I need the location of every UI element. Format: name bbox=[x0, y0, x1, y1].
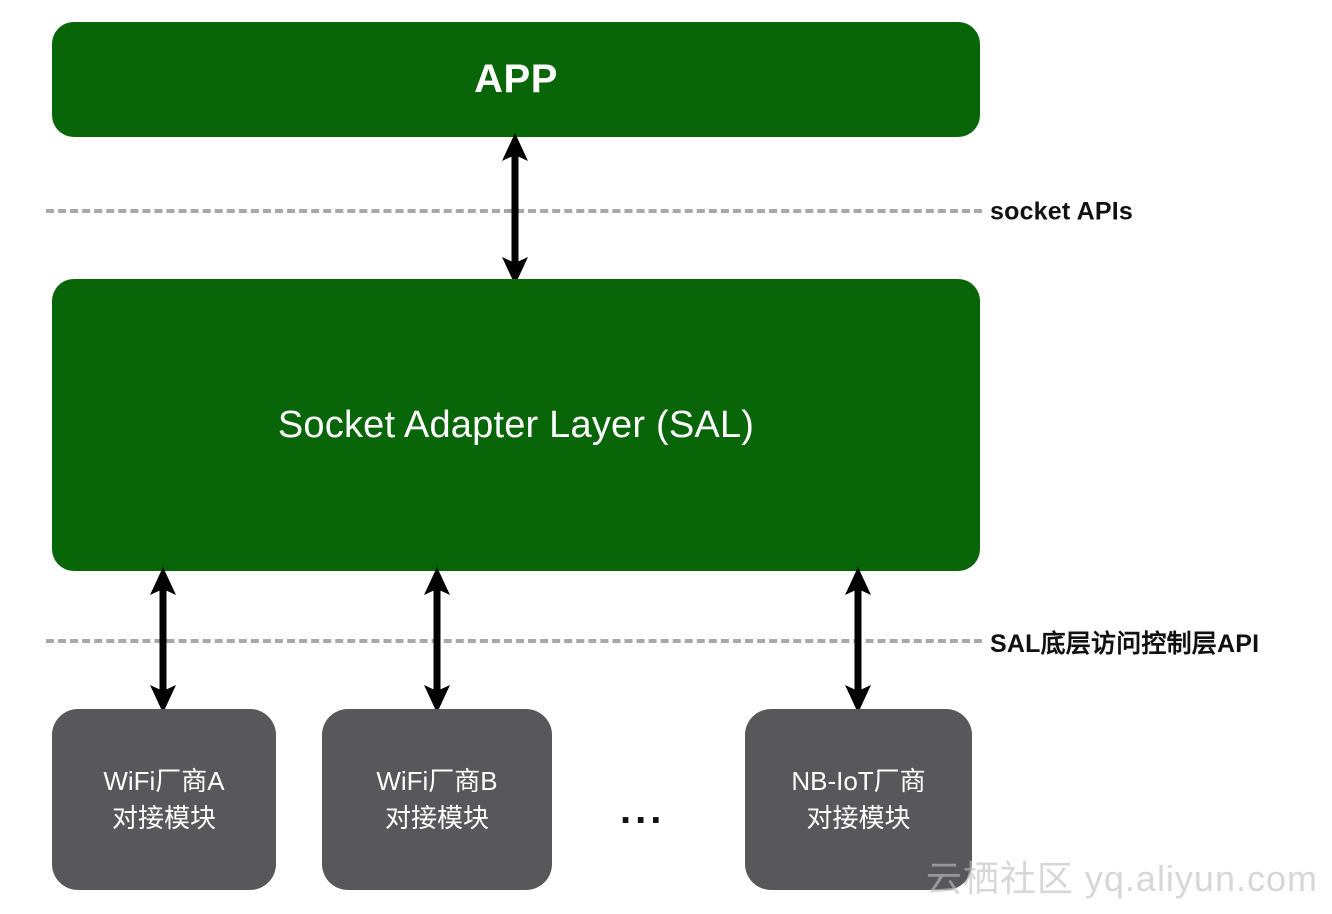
sal-layer-box[interactable]: Socket Adapter Layer (SAL) bbox=[52, 279, 980, 571]
arrow-sal-to-vendor-0 bbox=[139, 567, 187, 713]
ellipsis-more-vendors: ... bbox=[620, 790, 665, 830]
divider-label-sal-access-control: SAL底层访问控制层API bbox=[990, 624, 1259, 660]
vendor-module-box-wifi-a[interactable]: WiFi厂商A 对接模块 bbox=[52, 709, 276, 890]
arrow-sal-to-vendor-1 bbox=[413, 567, 461, 713]
divider-label-socket-apis: socket APIs bbox=[990, 198, 1133, 227]
vendor-module-box-nb-iot[interactable]: NB-IoT厂商 对接模块 bbox=[745, 709, 972, 890]
vendor-label-line2: 对接模块 bbox=[791, 800, 925, 837]
vendor-label-group: WiFi厂商B 对接模块 bbox=[376, 763, 497, 837]
watermark-text: 云栖社区 yq.aliyun.com bbox=[926, 850, 1318, 902]
vendor-label-line2: 对接模块 bbox=[103, 800, 224, 837]
arrow-sal-to-vendor-2 bbox=[834, 567, 882, 713]
sal-layer-label: Socket Adapter Layer (SAL) bbox=[278, 404, 754, 447]
vendor-label-group: NB-IoT厂商 对接模块 bbox=[791, 763, 925, 837]
vendor-module-box-wifi-b[interactable]: WiFi厂商B 对接模块 bbox=[322, 709, 552, 890]
vendor-label-group: WiFi厂商A 对接模块 bbox=[103, 763, 224, 837]
vendor-label-line1: NB-IoT厂商 bbox=[791, 763, 925, 800]
vendor-label-line1: WiFi厂商B bbox=[376, 763, 497, 800]
app-layer-box[interactable]: APP bbox=[52, 22, 980, 137]
diagram-canvas: APP socket APIs Socket Adapter Layer (SA… bbox=[0, 0, 1332, 914]
vendor-label-line2: 对接模块 bbox=[376, 800, 497, 837]
arrow-app-to-sal bbox=[490, 133, 540, 285]
app-layer-label: APP bbox=[474, 57, 558, 102]
vendor-label-line1: WiFi厂商A bbox=[103, 763, 224, 800]
